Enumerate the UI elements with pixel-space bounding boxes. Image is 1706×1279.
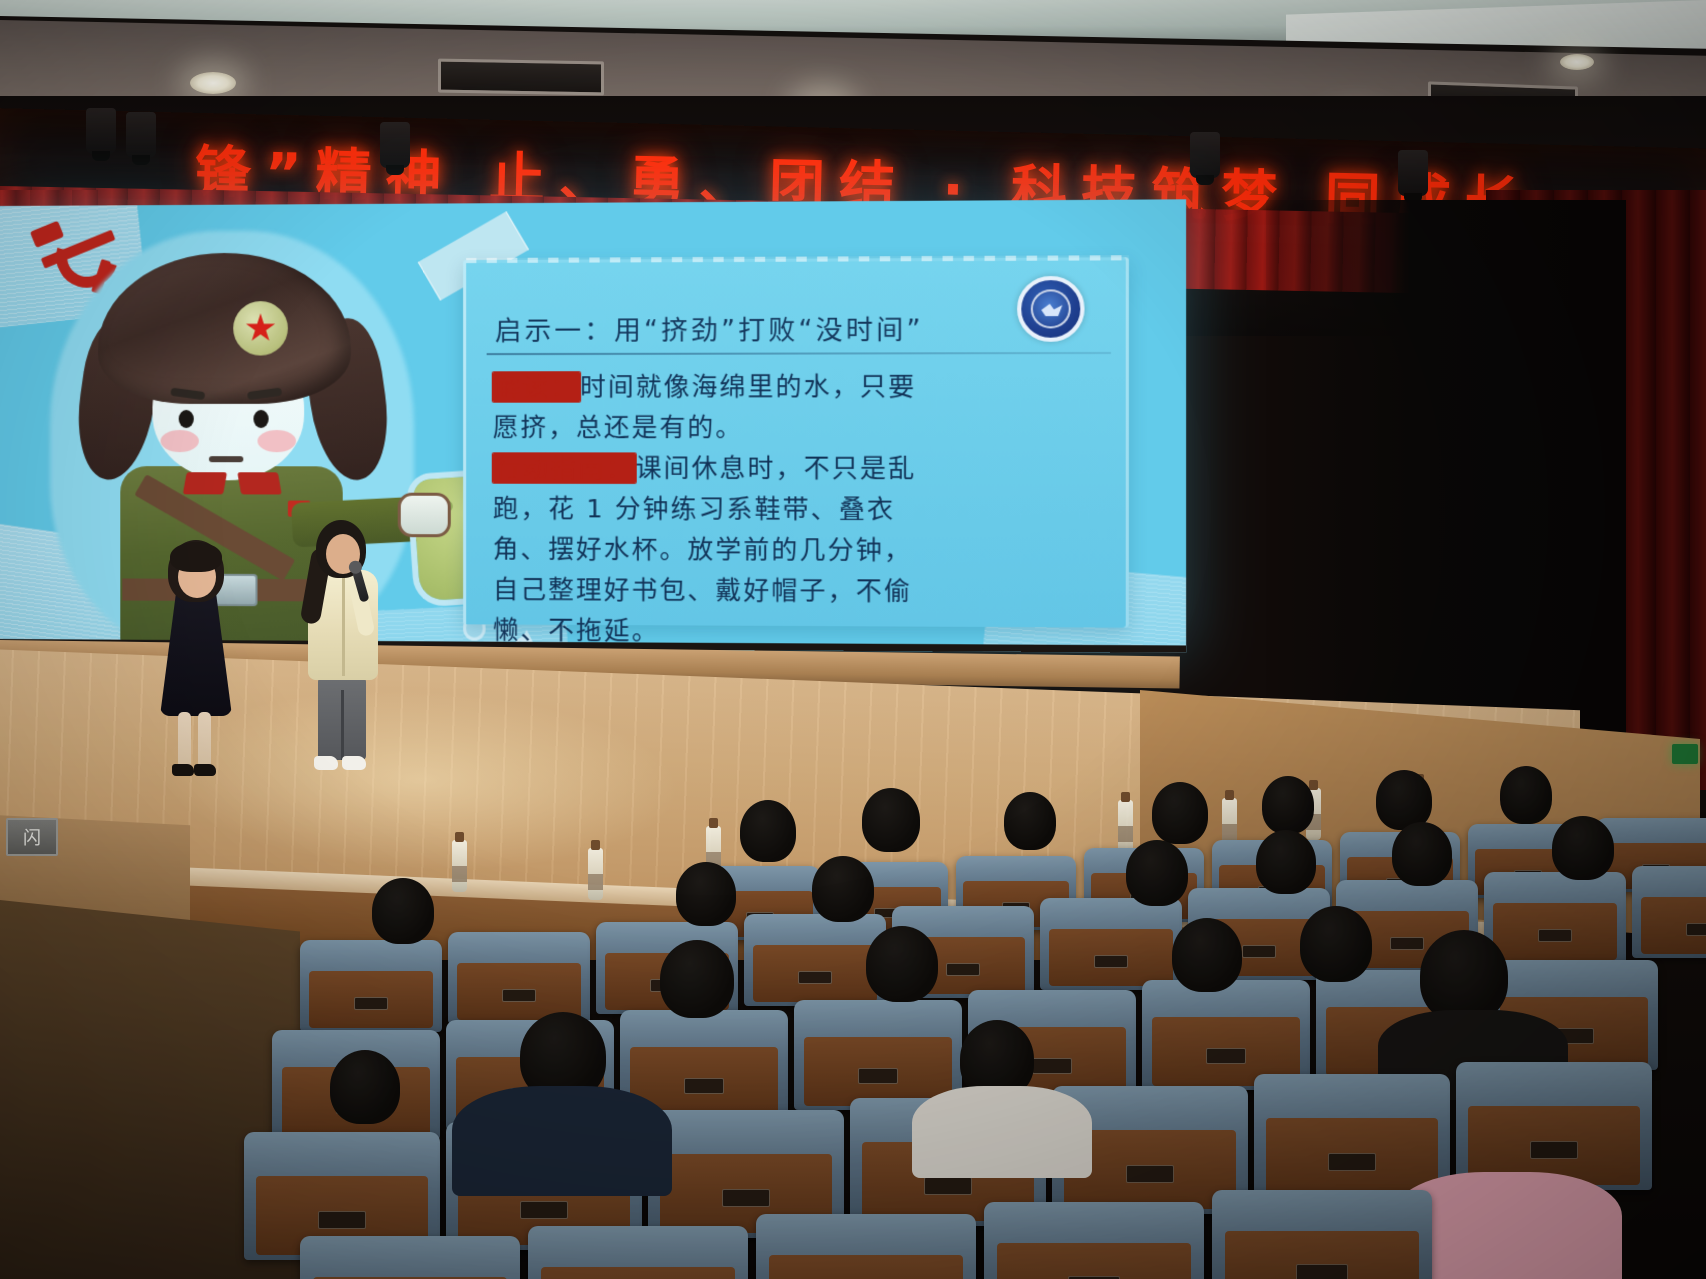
seat[interactable] [756,1214,976,1279]
audience-head [1152,782,1208,844]
stage-backdrop-right [1266,200,1626,760]
seat[interactable] [1212,1190,1432,1279]
audience-head [1300,906,1372,982]
slide-line: 跑，花 1 分钟练习系鞋带、叠衣 [493,489,1113,531]
audience-head [1376,770,1432,830]
audience-head [812,856,874,922]
water-bottle [588,848,603,900]
collar-tab [237,472,281,494]
seat[interactable] [300,1236,520,1279]
black-dress [160,594,232,716]
leg [178,712,191,768]
shoe [172,764,194,776]
seat[interactable] [744,914,886,1006]
audience-head [862,788,920,852]
audience-head [1256,830,1316,894]
slide-line-text: 跑，花 1 分钟练习系鞋带、叠衣 [493,494,895,524]
eye [253,410,268,428]
presenter-teacher [152,540,242,780]
trouser-seam [341,690,344,760]
shoe [194,764,216,776]
audience-head [1392,822,1452,886]
downlight [1560,54,1594,70]
leg [198,712,211,768]
audience-head [372,878,434,944]
seat[interactable] [1456,1062,1652,1190]
stage-spotlight [86,108,116,154]
hair-fringe [170,542,222,572]
auditorium-scene: 锋”精神 止、勇、团结 · 科技筑梦 同成长 [0,0,1706,1279]
slide-line-text: 懒、不拖延。 [493,615,660,645]
audience-head [1552,816,1614,880]
eye [179,410,194,428]
audience-shoulders [452,1086,672,1196]
seat[interactable] [300,940,442,1032]
exit-sign [1672,744,1698,764]
slide-line-text: 自己整理好书包、戴好帽子，不偷 [493,575,912,606]
collar-tab [183,472,227,494]
audience-head [866,926,938,1002]
audience-head [1500,766,1552,824]
slide-line-text: 角、摆好水杯。放学前的几分钟， [493,534,912,565]
seat[interactable] [984,1202,1204,1279]
water-bottle [452,840,467,892]
slide-line-text: 时间就像海绵里的水，只要 [580,372,916,402]
seat[interactable] [528,1226,748,1279]
hand [398,493,451,538]
mouth [209,456,243,462]
seat[interactable] [1040,898,1182,990]
audience-head [740,800,796,862]
redacted-label: 行动指南： [493,453,636,483]
slide-line-text: 课间休息时，不只是乱 [636,453,917,483]
audience-head [676,862,736,926]
slide-line-text: 愿挤，总还是有的。 [493,413,744,443]
blush [257,430,296,452]
audience-head [660,940,734,1018]
red-star-icon [233,301,288,355]
slide-body-text: 解读：时间就像海绵里的水，只要 愿挤，总还是有的。 行动指南：课间休息时，不只是… [493,366,1113,652]
slide-title: 启示一：用“挤劲”打败“没时间” [495,309,1109,348]
air-vent [438,59,604,96]
shoe [314,756,338,770]
slide-line: 愿挤，总还是有的。 [493,407,1113,448]
stage-spotlight [380,122,410,168]
audience-head [1420,930,1508,1022]
audience-head [1262,776,1314,834]
slide-line: 自己整理好书包、戴好帽子，不偷 [493,570,1113,613]
stage-spotlight [1190,132,1220,178]
downlight [190,72,236,94]
seat[interactable] [448,932,590,1024]
audience-head [1172,918,1242,992]
audience-head [1126,840,1188,906]
shoe [342,756,366,770]
redacted-label: 解读： [493,372,580,401]
title-divider [487,352,1111,355]
audience-head [1004,792,1056,850]
stage-spotlight [126,112,156,158]
water-bottle [1118,800,1133,852]
seat[interactable] [1632,866,1706,958]
slide-text-card: 启示一：用“挤劲”打败“没时间” 解读：时间就像海绵里的水，只要 愿挤，总还是有… [463,257,1129,627]
stage-spotlight [1398,150,1428,196]
presenter-student [300,520,390,780]
slide-line: 角、摆好水杯。放学前的几分钟， [493,529,1113,572]
slide-line: 行动指南：课间休息时，不只是乱 [493,448,1113,489]
wall-sign: 闪 [6,818,58,856]
blush [161,430,199,452]
slide-line: 懒、不拖延。 [493,610,1113,652]
slide-line: 解读：时间就像海绵里的水，只要 [493,366,1113,407]
seat[interactable] [794,1000,962,1110]
audience-head [330,1050,400,1124]
zipper [342,572,345,676]
audience-shoulders [912,1086,1092,1178]
seat[interactable] [1484,872,1626,964]
